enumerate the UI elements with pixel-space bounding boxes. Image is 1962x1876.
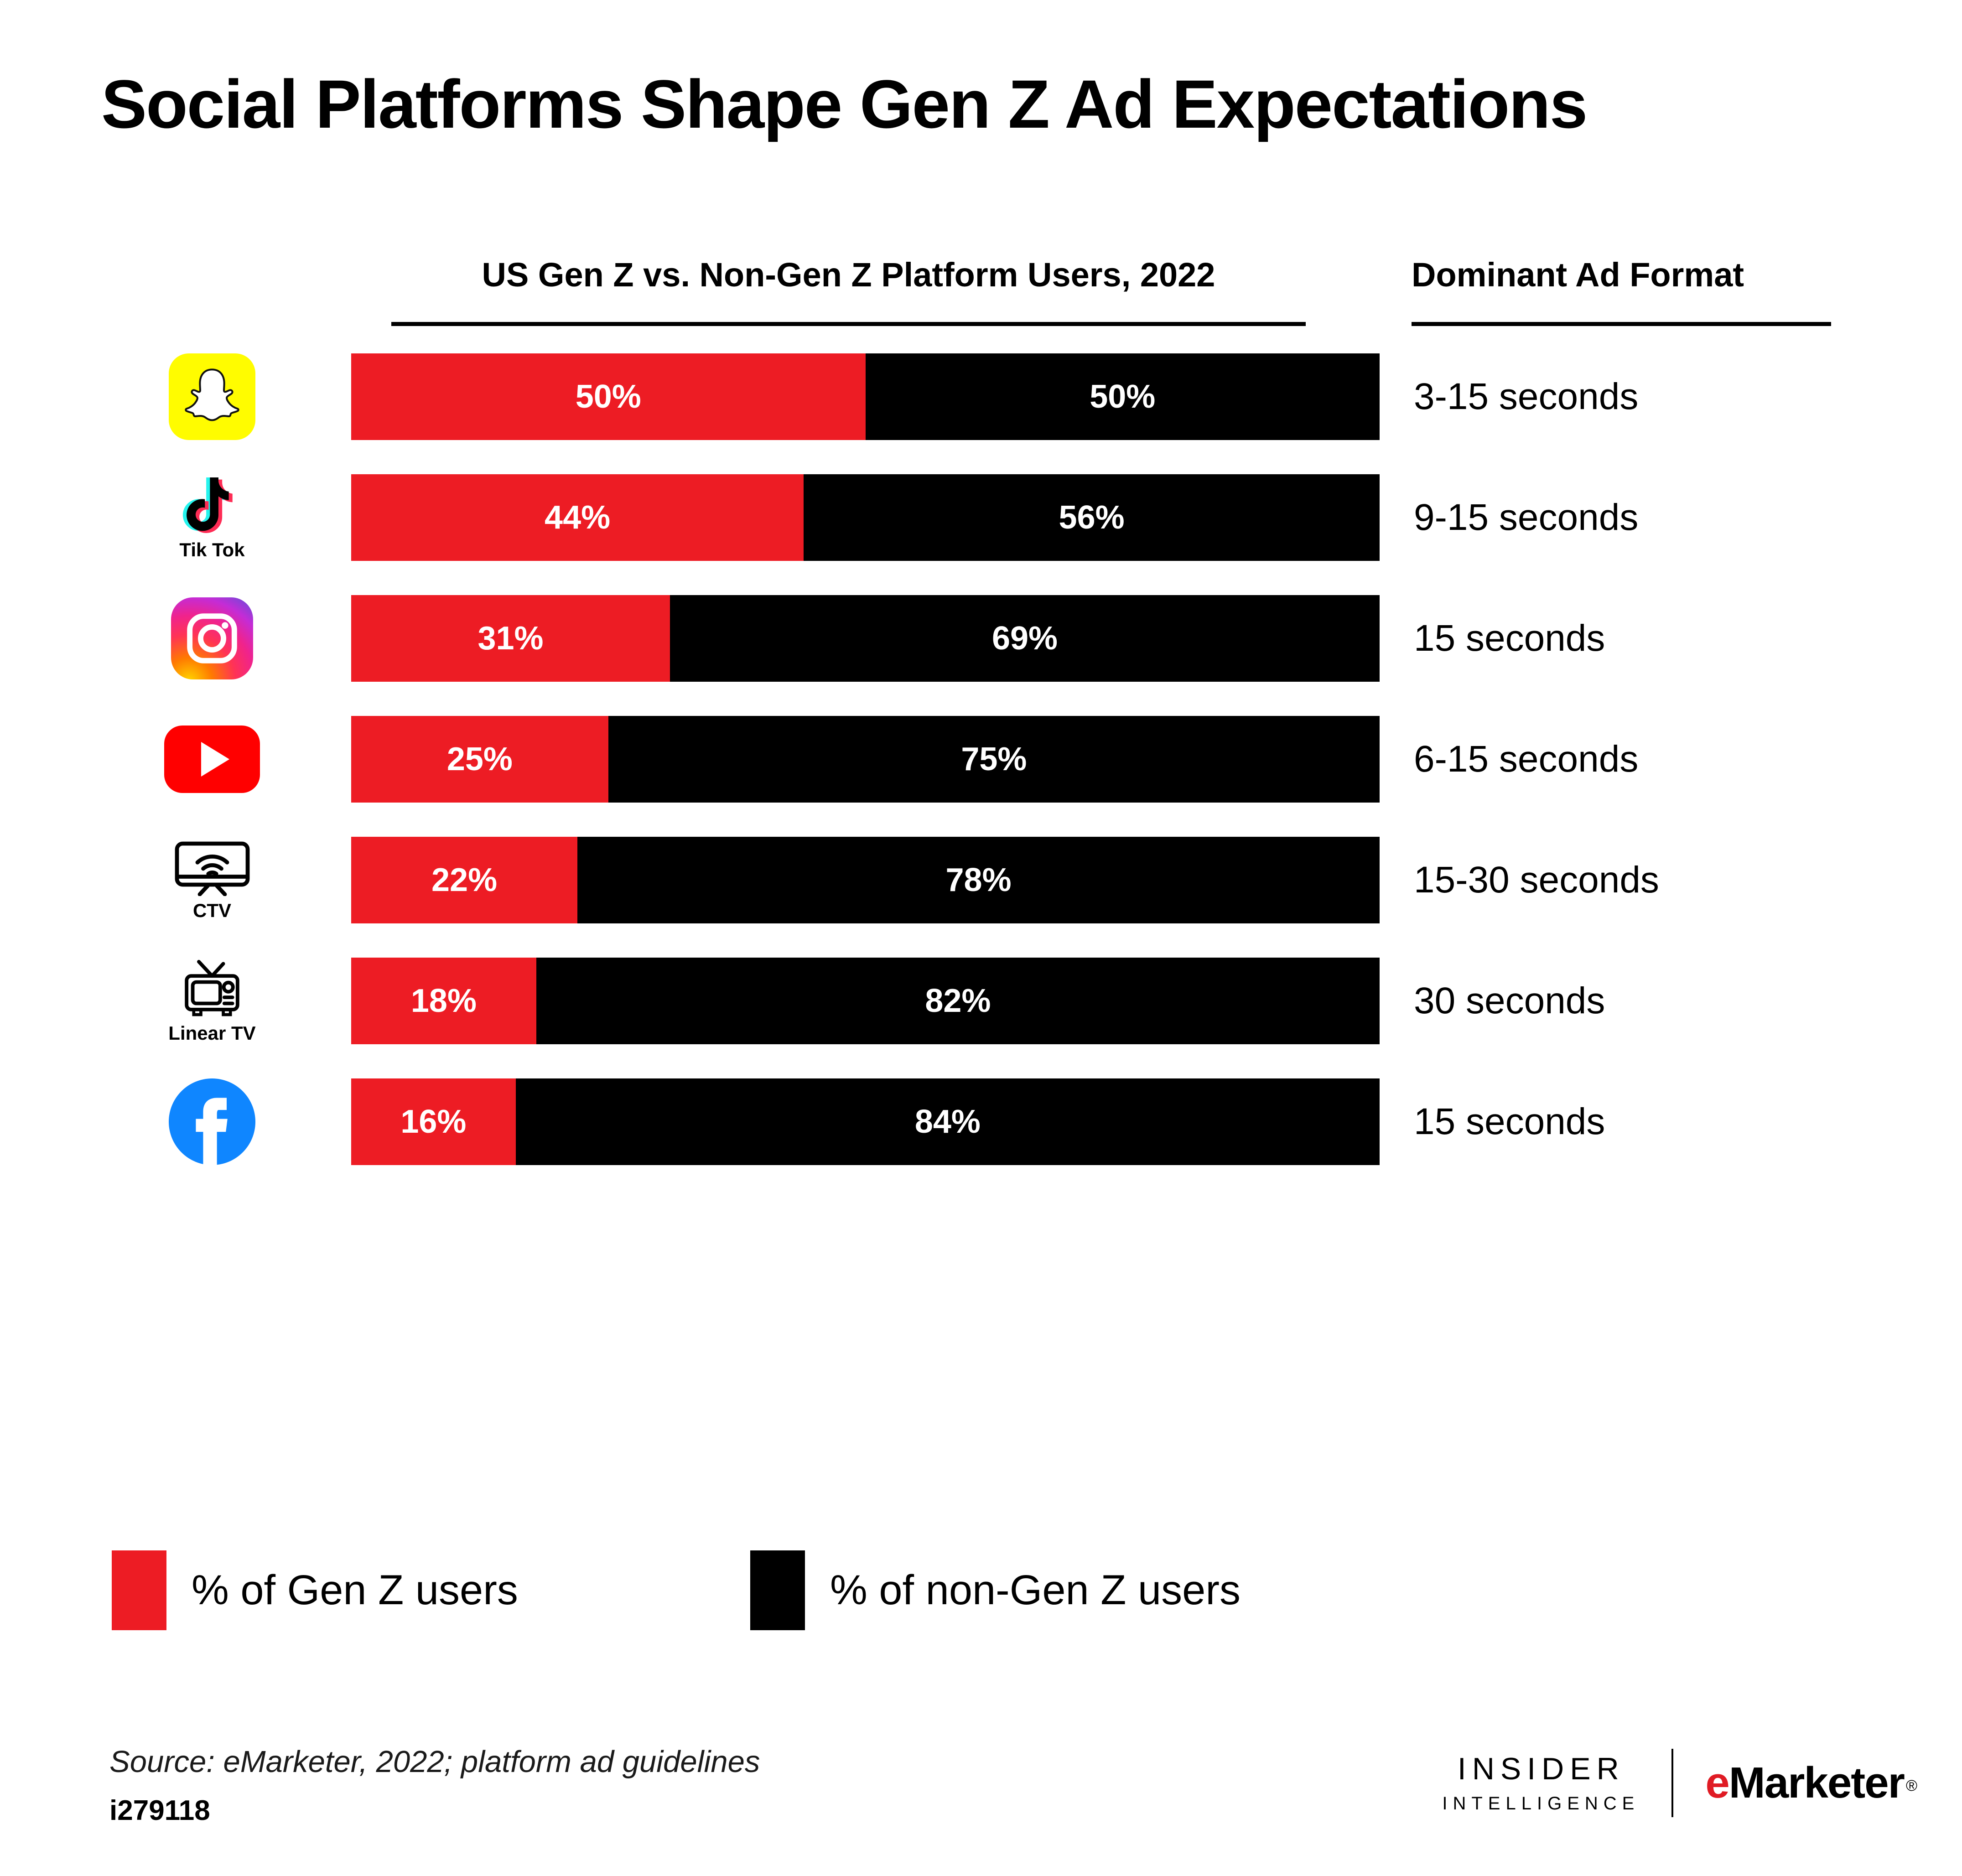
format-header-underline: [1412, 322, 1831, 326]
format-column-header: Dominant Ad Format: [1412, 255, 1831, 294]
dominant-ad-format-cell: 15 seconds: [1414, 595, 1938, 682]
dominant-ad-format-cell: 15-30 seconds: [1414, 837, 1938, 923]
bar-segment-gen-z: 22%: [351, 837, 577, 923]
ctv-icon: [172, 839, 252, 896]
platform-icon-cell: [137, 595, 287, 682]
chart-header-underline: [391, 322, 1306, 326]
platform-icon-cell: [137, 1078, 287, 1165]
platform-icon-label: CTV: [193, 900, 231, 922]
bar-segment-gen-z: 16%: [351, 1078, 516, 1165]
legend-item-gen-z: % of Gen Z users: [112, 1550, 518, 1630]
platform-icon-cell: CTV: [137, 837, 287, 923]
table-row: 31%69%15 seconds: [0, 595, 1962, 682]
stacked-bar: 44%56%: [351, 474, 1380, 561]
snapchat-icon: [169, 353, 255, 440]
legend-label-non-gen-z: % of non-Gen Z users: [830, 1566, 1241, 1614]
youtube-icon: [164, 726, 260, 793]
platform-icon-label: Linear TV: [168, 1022, 255, 1044]
emarketer-logo: eMarketer®: [1705, 1758, 1916, 1808]
dominant-ad-format-cell: 6-15 seconds: [1414, 716, 1938, 803]
footer-logos: INSIDER INTELLIGENCE eMarketer®: [1437, 1749, 1916, 1817]
stacked-bar: 18%82%: [351, 958, 1380, 1044]
stacked-bar: 25%75%: [351, 716, 1380, 803]
table-row: Tik Tok44%56%9-15 seconds: [0, 474, 1962, 561]
platform-icon-cell: Tik Tok: [137, 474, 287, 561]
table-row: CTV22%78%15-30 seconds: [0, 837, 1962, 923]
table-row: Linear TV18%82%30 seconds: [0, 958, 1962, 1044]
logo-divider: [1671, 1749, 1673, 1817]
source-note: Source: eMarketer, 2022; platform ad gui…: [109, 1744, 760, 1779]
chart-legend: % of Gen Z users % of non-Gen Z users: [0, 1550, 1962, 1642]
legend-item-non-gen-z: % of non-Gen Z users: [750, 1550, 1241, 1630]
bar-segment-gen-z: 31%: [351, 595, 670, 682]
stacked-bar: 16%84%: [351, 1078, 1380, 1165]
insider-logo-line2: INTELLIGENCE: [1437, 1794, 1640, 1813]
bar-segment-gen-z: 44%: [351, 474, 804, 561]
stacked-bar: 50%50%: [351, 353, 1380, 440]
platform-icon-label: Tik Tok: [179, 539, 244, 561]
stacked-bar: 22%78%: [351, 837, 1380, 923]
bar-segment-non-gen-z: 69%: [670, 595, 1380, 682]
chart-column-header: US Gen Z vs. Non-Gen Z Platform Users, 2…: [391, 255, 1306, 294]
page-title: Social Platforms Shape Gen Z Ad Expectat…: [101, 68, 1587, 140]
youtube-play-triangle: [201, 742, 229, 777]
bar-segment-non-gen-z: 75%: [608, 716, 1380, 803]
bar-segment-non-gen-z: 78%: [577, 837, 1380, 923]
legend-swatch-non-gen-z: [750, 1550, 805, 1630]
stacked-bar: 31%69%: [351, 595, 1380, 682]
bar-segment-non-gen-z: 82%: [536, 958, 1380, 1044]
facebook-f-glyph: [187, 1092, 237, 1165]
bar-segment-gen-z: 25%: [351, 716, 608, 803]
bar-segment-gen-z: 50%: [351, 353, 866, 440]
emarketer-logo-e: e: [1705, 1758, 1728, 1808]
bar-segment-gen-z: 18%: [351, 958, 536, 1044]
tiktok-icon: [178, 474, 246, 535]
registered-mark: ®: [1906, 1777, 1916, 1795]
emarketer-logo-word: Marketer: [1729, 1758, 1904, 1808]
dominant-ad-format-cell: 3-15 seconds: [1414, 353, 1938, 440]
linear-tv-icon: [178, 958, 246, 1019]
platform-icon-cell: Linear TV: [137, 958, 287, 1044]
table-row: 50%50%3-15 seconds: [0, 353, 1962, 440]
insider-logo-line1: INSIDER: [1452, 1753, 1625, 1784]
platform-icon-cell: [137, 716, 287, 803]
bar-segment-non-gen-z: 84%: [516, 1078, 1380, 1165]
bar-segment-non-gen-z: 56%: [804, 474, 1380, 561]
chart-id: i279118: [109, 1794, 210, 1827]
legend-swatch-gen-z: [112, 1550, 166, 1630]
facebook-icon: [169, 1078, 255, 1165]
dominant-ad-format-cell: 15 seconds: [1414, 1078, 1938, 1165]
bar-segment-non-gen-z: 50%: [866, 353, 1380, 440]
instagram-camera-glyph: [182, 608, 242, 669]
dominant-ad-format-cell: 9-15 seconds: [1414, 474, 1938, 561]
platform-icon-cell: [137, 353, 287, 440]
table-row: 16%84%15 seconds: [0, 1078, 1962, 1165]
insider-intelligence-logo: INSIDER INTELLIGENCE: [1437, 1753, 1640, 1813]
table-row: 25%75%6-15 seconds: [0, 716, 1962, 803]
legend-label-gen-z: % of Gen Z users: [192, 1566, 518, 1614]
snapchat-ghost-glyph: [183, 367, 241, 427]
instagram-icon: [171, 597, 253, 679]
dominant-ad-format-cell: 30 seconds: [1414, 958, 1938, 1044]
